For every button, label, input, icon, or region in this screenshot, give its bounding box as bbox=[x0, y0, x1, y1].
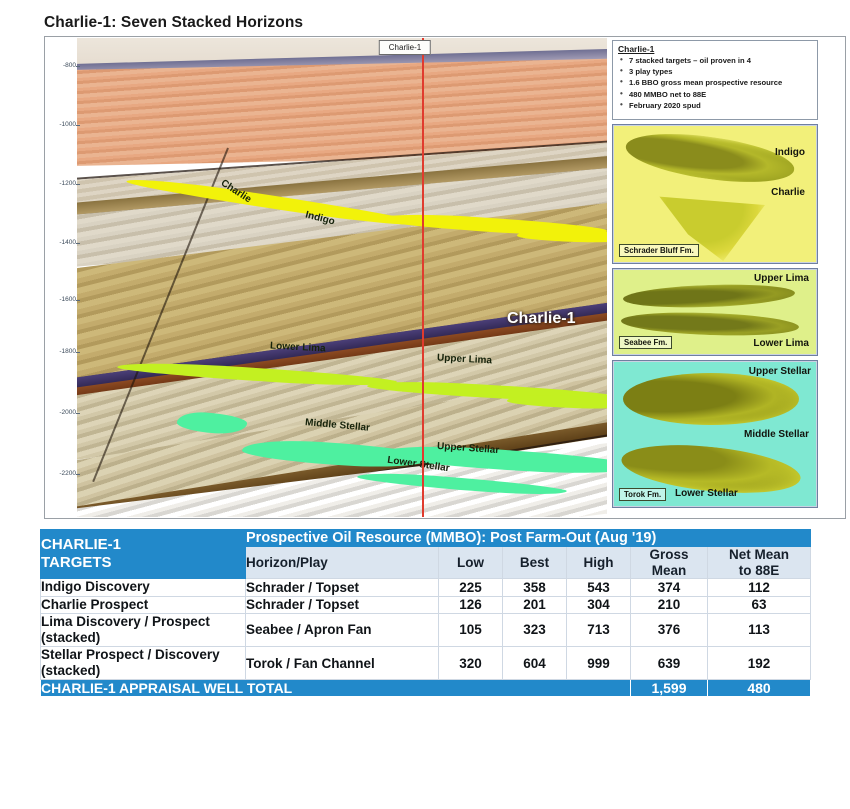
page-title: Charlie-1: Seven Stacked Horizons bbox=[44, 14, 303, 32]
info-bullet: 7 stacked targets – oil proven in 4 bbox=[618, 55, 812, 66]
formation-tag-torok: Torok Fm. bbox=[619, 488, 666, 501]
cell-high: 999 bbox=[567, 647, 631, 680]
cell-gross-mean: 376 bbox=[631, 613, 708, 646]
depth-axis: -800 -1000 -1200 -1400 -1600 -1800 -2000… bbox=[45, 38, 77, 517]
cell-play: Torok / Fan Channel bbox=[246, 647, 439, 680]
map-label-lower-stellar: Lower Stellar bbox=[675, 488, 738, 499]
map-panel-torok: Upper Stellar Middle Stellar Lower Stell… bbox=[612, 360, 818, 508]
cell-best: 358 bbox=[503, 579, 567, 596]
net-mean-line1: Net Mean bbox=[708, 547, 810, 563]
info-box: Charlie-1 7 stacked targets – oil proven… bbox=[612, 40, 818, 120]
total-label: CHARLIE-1 APPRAISAL WELL TOTAL bbox=[41, 680, 631, 697]
cell-high: 713 bbox=[567, 613, 631, 646]
column-header-net-mean: Net Mean to 88E bbox=[708, 547, 811, 579]
cell-low: 225 bbox=[439, 579, 503, 596]
cell-net-mean: 112 bbox=[708, 579, 811, 596]
cell-best: 323 bbox=[503, 613, 567, 646]
well-name-overlay: Charlie-1 bbox=[507, 310, 575, 328]
cell-play: Schrader / Topset bbox=[246, 579, 439, 596]
column-header-low: Low bbox=[439, 547, 503, 579]
depth-tick: -2000 bbox=[59, 409, 76, 416]
total-net-mean: 480 bbox=[708, 680, 811, 697]
cell-net-mean: 63 bbox=[708, 596, 811, 613]
cell-low: 105 bbox=[439, 613, 503, 646]
gross-mean-line2: Mean bbox=[631, 563, 707, 579]
table-header-row-banner: CHARLIE-1 TARGETS Prospective Oil Resour… bbox=[41, 530, 811, 547]
table-banner: Prospective Oil Resource (MMBO): Post Fa… bbox=[246, 530, 811, 547]
cell-target: Charlie Prospect bbox=[41, 596, 246, 613]
table-row: Charlie Prospect Schrader / Topset 126 2… bbox=[41, 596, 811, 613]
map-label-lower-lima: Lower Lima bbox=[753, 338, 809, 349]
column-header-best: Best bbox=[503, 547, 567, 579]
corner-title-line2: TARGETS bbox=[41, 554, 245, 572]
column-header-gross-mean: Gross Mean bbox=[631, 547, 708, 579]
depth-tick: -800 bbox=[63, 62, 76, 69]
cell-low: 126 bbox=[439, 596, 503, 613]
gross-mean-line1: Gross bbox=[631, 547, 707, 563]
cell-high: 543 bbox=[567, 579, 631, 596]
depth-tick: -1200 bbox=[59, 180, 76, 187]
map-label-upper-stellar: Upper Stellar bbox=[749, 366, 811, 377]
amplitude-blob-upper-stellar bbox=[623, 373, 799, 425]
seismic-image: Charlie Indigo Lower Lima Upper Lima Mid… bbox=[77, 38, 607, 517]
cell-target: Stellar Prospect / Discovery (stacked) bbox=[41, 647, 246, 680]
cell-target: Indigo Discovery bbox=[41, 579, 246, 596]
cell-gross-mean: 639 bbox=[631, 647, 708, 680]
net-mean-line2: to 88E bbox=[708, 563, 810, 579]
info-box-list: 7 stacked targets – oil proven in 4 3 pl… bbox=[618, 55, 812, 111]
info-bullet: February 2020 spud bbox=[618, 100, 812, 111]
map-label-middle-stellar: Middle Stellar bbox=[744, 429, 809, 440]
map-label-indigo: Indigo bbox=[775, 147, 805, 158]
cell-high: 304 bbox=[567, 596, 631, 613]
seismic-section: Charlie Indigo Lower Lima Upper Lima Mid… bbox=[45, 38, 607, 517]
info-box-title: Charlie-1 bbox=[618, 44, 812, 54]
cell-net-mean: 192 bbox=[708, 647, 811, 680]
info-bullet: 3 play types bbox=[618, 66, 812, 77]
info-bullet: 1.6 BBO gross mean prospective resource bbox=[618, 77, 812, 88]
table-row: Lima Discovery / Prospect (stacked) Seab… bbox=[41, 613, 811, 646]
column-header-horizon-play: Horizon/Play bbox=[246, 547, 439, 579]
corner-title-line1: CHARLIE-1 bbox=[41, 536, 245, 554]
formation-tag-seabee: Seabee Fm. bbox=[619, 336, 672, 349]
cell-gross-mean: 374 bbox=[631, 579, 708, 596]
formation-tag-schrader-bluff: Schrader Bluff Fm. bbox=[619, 244, 699, 257]
column-header-high: High bbox=[567, 547, 631, 579]
depth-tick: -1800 bbox=[59, 348, 76, 355]
cell-best: 201 bbox=[503, 596, 567, 613]
map-panel-seabee: Upper Lima Lower Lima Seabee Fm. bbox=[612, 268, 818, 356]
map-label-charlie: Charlie bbox=[771, 187, 805, 198]
table-row: Indigo Discovery Schrader / Topset 225 3… bbox=[41, 579, 811, 596]
cell-best: 604 bbox=[503, 647, 567, 680]
depth-tick: -1000 bbox=[59, 121, 76, 128]
cell-play: Schrader / Topset bbox=[246, 596, 439, 613]
total-gross-mean: 1,599 bbox=[631, 680, 708, 697]
cell-gross-mean: 210 bbox=[631, 596, 708, 613]
depth-tick: -1400 bbox=[59, 239, 76, 246]
resource-table: CHARLIE-1 TARGETS Prospective Oil Resour… bbox=[40, 529, 811, 697]
map-label-upper-lima: Upper Lima bbox=[754, 273, 809, 284]
well-track bbox=[422, 38, 424, 517]
well-callout-label: Charlie-1 bbox=[379, 40, 431, 55]
info-bullet: 480 MMBO net to 88E bbox=[618, 89, 812, 100]
map-panel-schrader-bluff: Indigo Charlie Schrader Bluff Fm. bbox=[612, 124, 818, 264]
table-row: Stellar Prospect / Discovery (stacked) T… bbox=[41, 647, 811, 680]
cell-target: Lima Discovery / Prospect (stacked) bbox=[41, 613, 246, 646]
cell-net-mean: 113 bbox=[708, 613, 811, 646]
depth-tick: -1600 bbox=[59, 296, 76, 303]
depth-tick: -2200 bbox=[59, 470, 76, 477]
table-total-row: CHARLIE-1 APPRAISAL WELL TOTAL 1,599 480 bbox=[41, 680, 811, 697]
cell-play: Seabee / Apron Fan bbox=[246, 613, 439, 646]
cell-low: 320 bbox=[439, 647, 503, 680]
table-corner-title: CHARLIE-1 TARGETS bbox=[41, 530, 246, 579]
